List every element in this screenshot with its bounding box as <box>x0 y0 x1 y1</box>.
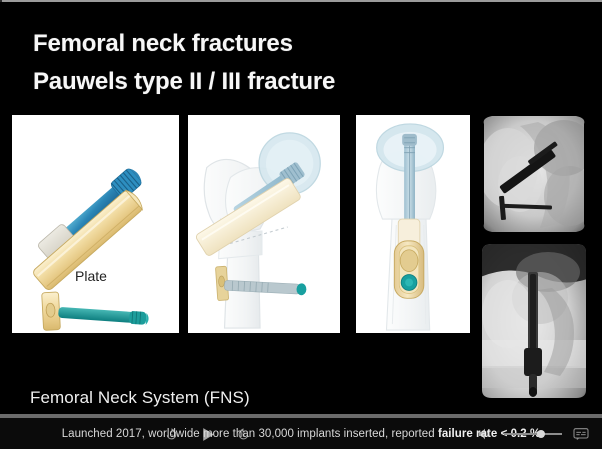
progress-bar[interactable] <box>0 414 602 418</box>
xray-ap-image <box>478 236 590 406</box>
progress-bar-fill <box>0 414 602 418</box>
implant-construct-illustration <box>13 116 178 332</box>
svg-text:5: 5 <box>170 432 173 438</box>
rewind-5-icon[interactable]: 5 <box>160 423 182 445</box>
lateral-anatomy-illustration <box>189 116 339 332</box>
volume-high-icon[interactable] <box>474 423 496 445</box>
panel-lateral-anatomy <box>188 115 340 333</box>
volume-knob[interactable] <box>537 430 545 438</box>
volume-slider[interactable] <box>504 423 562 445</box>
forward-5-icon[interactable]: 5 <box>232 423 254 445</box>
xray-ap-fluoroscopy <box>478 236 590 406</box>
slide-title: Femoral neck fractures <box>33 32 293 56</box>
panel-ap-anatomy <box>356 115 470 333</box>
right-controls[interactable] <box>474 419 592 449</box>
panel-implant-construct: Plate <box>12 115 179 333</box>
play-icon[interactable] <box>196 423 218 445</box>
xray-lateral-fluoroscopy <box>478 114 590 235</box>
svg-text:5: 5 <box>242 432 245 438</box>
plate-label: Plate <box>75 268 107 284</box>
xray-lateral-image <box>478 114 590 235</box>
volume-track <box>504 433 562 435</box>
subtitle-text: Launched 2017, worldwide more than 30,00… <box>62 428 541 440</box>
playback-controls[interactable]: 5 5 <box>160 419 254 449</box>
slide-subtitle: Pauwels type II / III fracture <box>33 70 335 94</box>
video-player-controls[interactable]: Launched 2017, worldwide more than 30,00… <box>0 414 602 449</box>
ap-anatomy-illustration <box>357 116 469 332</box>
presentation-slide: Femoral neck fractures Pauwels type II /… <box>0 2 602 414</box>
captions-icon[interactable] <box>570 423 592 445</box>
slide-caption: Femoral Neck System (FNS) <box>30 388 250 408</box>
